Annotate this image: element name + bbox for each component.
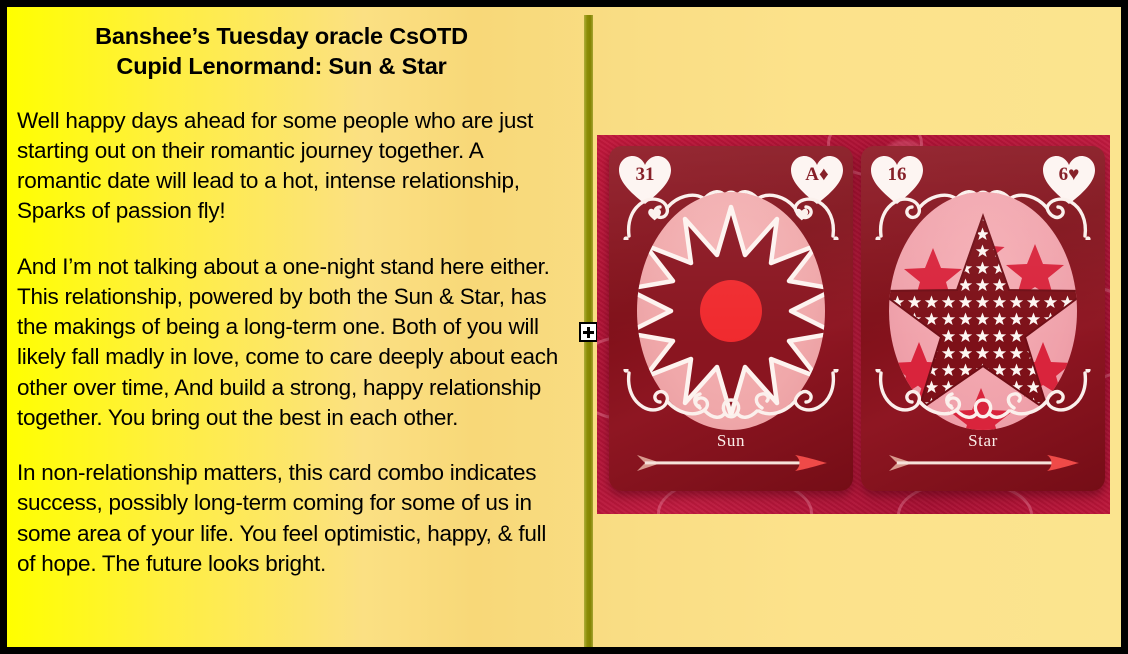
sun-core-disc bbox=[700, 280, 762, 342]
card-suit-label: A♦ bbox=[789, 154, 845, 206]
reading-paragraph-1: Well happy days ahead for some people wh… bbox=[17, 106, 564, 227]
page-title-line-2: Cupid Lenormand: Sun & Star bbox=[17, 51, 546, 81]
arrow-icon bbox=[887, 453, 1083, 473]
card-artwork-oval bbox=[637, 192, 825, 430]
paragraph-spacer bbox=[17, 433, 564, 458]
card-suit-badge: A♦ bbox=[789, 154, 845, 206]
move-crosshair-icon[interactable] bbox=[579, 322, 598, 342]
reading-paragraph-2: And I’m not talking about a one-night st… bbox=[17, 252, 564, 434]
card-photo[interactable]: 31 A♦ bbox=[597, 135, 1110, 514]
card-number-label: 16 bbox=[869, 154, 925, 206]
card-artwork-oval bbox=[889, 192, 1077, 430]
card-name-label: Sun bbox=[609, 431, 853, 451]
crosshair-vertical-bar bbox=[587, 327, 590, 338]
card-suit-label: 6♥ bbox=[1041, 154, 1097, 206]
card-number-badge: 16 bbox=[869, 154, 925, 206]
paragraph-spacer bbox=[17, 227, 564, 252]
card-name-label: Star bbox=[861, 431, 1105, 451]
reading-paragraph-3: In non-relationship matters, this card c… bbox=[17, 458, 564, 579]
card-number-label: 31 bbox=[617, 154, 673, 206]
card-suit-badge: 6♥ bbox=[1041, 154, 1097, 206]
lenormand-card-sun[interactable]: 31 A♦ bbox=[609, 146, 853, 491]
card-number-badge: 31 bbox=[617, 154, 673, 206]
page-title: Banshee’s Tuesday oracle CsOTD Cupid Len… bbox=[17, 21, 564, 82]
star-motif-icon bbox=[889, 192, 1077, 430]
arrow-icon bbox=[635, 453, 831, 473]
lenormand-card-star[interactable]: 16 6♥ bbox=[861, 146, 1105, 491]
reading-text-panel: Banshee’s Tuesday oracle CsOTD Cupid Len… bbox=[7, 7, 572, 647]
screenshot-canvas: Banshee’s Tuesday oracle CsOTD Cupid Len… bbox=[0, 0, 1128, 654]
page-title-line-1: Banshee’s Tuesday oracle CsOTD bbox=[17, 21, 546, 51]
